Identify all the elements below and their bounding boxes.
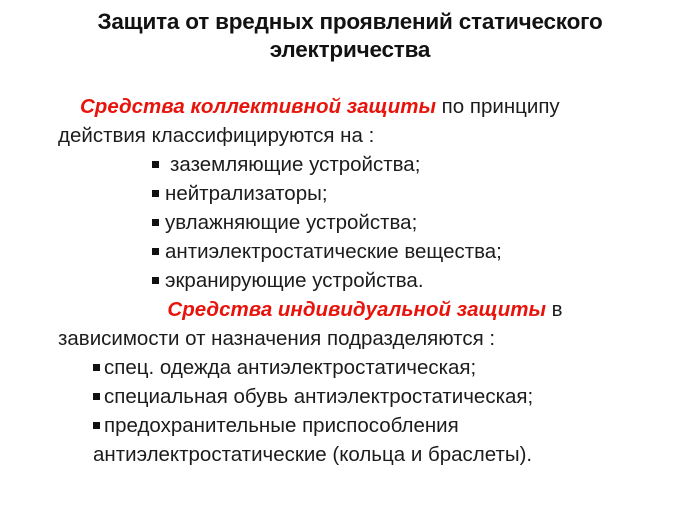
list-item: заземляющие устройства; [152,150,700,179]
square-bullet-icon [152,248,159,255]
square-bullet-icon [93,393,100,400]
collective-lead-rest: по принципу [436,95,560,118]
individual-intro-line-1: Средства индивидуальной защиты в [0,295,700,324]
collective-measures-list: заземляющие устройства; нейтрализаторы; … [152,150,700,295]
list-item: увлажняющие устройства; [152,208,700,237]
slide-root: Защита от вредных проявлений статическог… [0,0,700,525]
list-item-label-continued: антиэлектростатические (кольца и браслет… [93,440,680,469]
collective-intro-line-1: Средства коллективной защиты по принципу [0,92,700,121]
square-bullet-icon [152,219,159,226]
square-bullet-icon [93,364,100,371]
square-bullet-icon [152,277,159,284]
list-item-label: экранирующие устройства. [165,269,424,292]
list-item-label: специальная обувь антиэлектростатическая… [104,385,533,408]
square-bullet-icon [152,161,159,168]
individual-lead-emphasis: Средства индивидуальной защиты [167,298,546,321]
list-item-label: антиэлектростатические вещества; [165,240,502,263]
square-bullet-icon [93,422,100,429]
slide-body: Средства коллективной защиты по принципу… [0,92,700,469]
square-bullet-icon [152,190,159,197]
list-item-label: заземляющие устройства; [170,153,420,176]
list-item: экранирующие устройства. [152,266,700,295]
list-item: антиэлектростатические вещества; [152,237,700,266]
list-item-label: увлажняющие устройства; [165,211,417,234]
list-item: специальная обувь антиэлектростатическая… [93,382,680,411]
list-item: нейтрализаторы; [152,179,700,208]
individual-measures-list: спец. одежда антиэлектростатическая; спе… [93,353,680,469]
list-item-label: предохранительные приспособления [104,414,459,437]
list-item-label: нейтрализаторы; [165,182,328,205]
collective-lead-emphasis: Средства коллективной защиты [80,95,436,118]
individual-intro-line-2: зависимости от назначения подразделяются… [0,324,700,353]
list-item: спец. одежда антиэлектростатическая; [93,353,680,382]
page-title: Защита от вредных проявлений статическог… [40,8,660,64]
list-item-label: спец. одежда антиэлектростатическая; [104,356,476,379]
individual-lead-rest: в [546,298,563,321]
collective-intro-line-2: действия классифицируются на : [0,121,700,150]
list-item: предохранительные приспособления антиэле… [93,411,680,469]
